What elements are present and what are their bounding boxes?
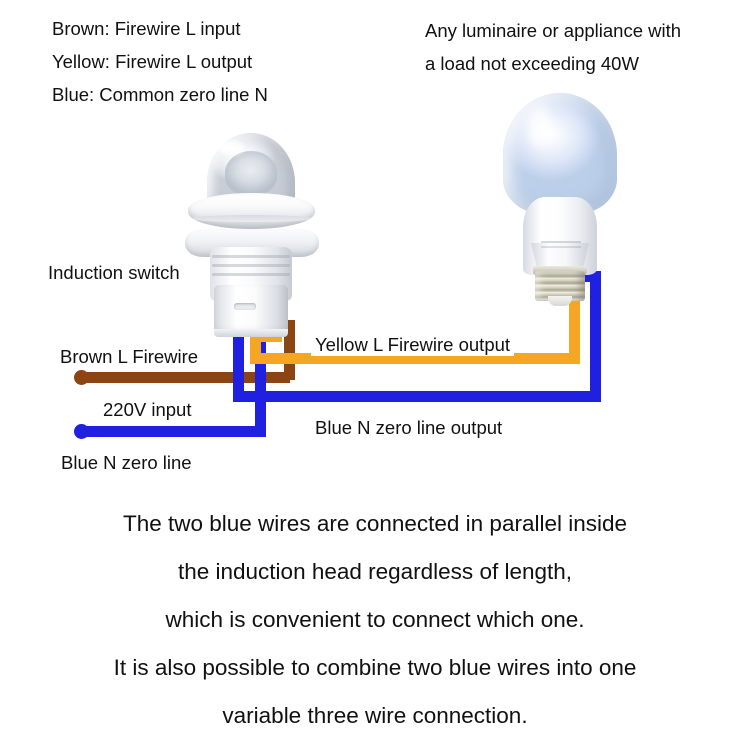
footer-line-5: variable three wire connection.: [0, 692, 750, 740]
legend-line-blue: Blue: Common zero line N: [52, 78, 382, 111]
load-note-line-1: Any luminaire or appliance with: [425, 14, 745, 47]
led-light-bulb[interactable]: [497, 93, 623, 300]
sensor-collar-seam: [192, 215, 311, 222]
footer-description: The two blue wires are connected in para…: [0, 500, 750, 740]
footer-line-4: It is also possible to combine two blue …: [0, 644, 750, 692]
bulb-spec-print: [541, 239, 581, 253]
sensor-dome-highlight: [218, 141, 244, 155]
bulb-dome-highlight: [527, 107, 553, 147]
sensor-fresnel-lens: [225, 151, 277, 195]
legend-line-brown: Brown: Firewire L input: [52, 12, 382, 45]
footer-line-2: the induction head regardless of length,: [0, 548, 750, 596]
label-induction-switch: Induction switch: [46, 262, 182, 284]
blue-input-wire-horizontal: [84, 426, 266, 437]
label-220v-input: 220V input: [100, 399, 194, 421]
brown-input-terminal: [74, 370, 89, 385]
footer-line-3: which is convenient to connect which one…: [0, 596, 750, 644]
footer-line-1: The two blue wires are connected in para…: [0, 500, 750, 548]
bulb-base-contact-tip: [548, 296, 572, 306]
wire-color-legend: Brown: Firewire L input Yellow: Firewire…: [52, 12, 382, 111]
legend-line-yellow: Yellow: Firewire L output: [52, 45, 382, 78]
sensor-wire-outlet: [214, 329, 288, 337]
pir-induction-switch[interactable]: [178, 133, 326, 338]
wiring-diagram-page: Brown: Firewire L input Yellow: Firewire…: [0, 0, 750, 750]
sensor-collar-ring: [188, 193, 315, 229]
load-note-line-2: a load not exceeding 40W: [425, 47, 745, 80]
label-yellow-l-firewire-output: Yellow L Firewire output: [311, 334, 514, 356]
load-rating-note: Any luminaire or appliance with a load n…: [425, 14, 745, 80]
sensor-thread-ridge-2: [212, 264, 290, 267]
sensor-base-housing: [214, 285, 288, 335]
sensor-adjust-slot[interactable]: [234, 303, 256, 310]
label-blue-n-zero-line: Blue N zero line: [58, 452, 195, 474]
label-blue-n-zero-line-output: Blue N zero line output: [311, 417, 506, 439]
label-brown-l-firewire: Brown L Firewire: [57, 346, 201, 368]
sensor-thread-ridge-3: [212, 273, 290, 276]
sensor-thread-ridge-1: [212, 255, 290, 258]
blue-input-terminal: [74, 424, 89, 439]
blue-output-wire-main-horizontal: [233, 391, 601, 402]
